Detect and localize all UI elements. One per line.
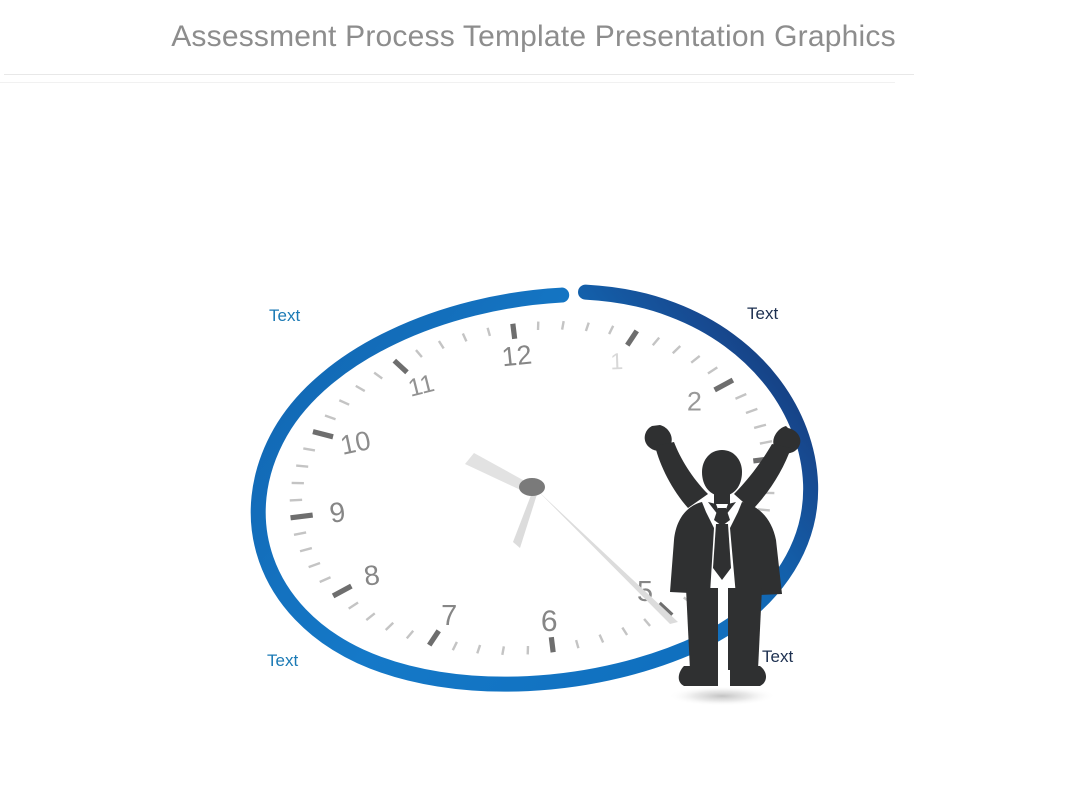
leg-left — [686, 588, 718, 670]
clock-numeral-6: 6 — [541, 605, 558, 638]
left-arm — [655, 442, 708, 508]
hour-tick — [513, 324, 515, 339]
head — [702, 450, 742, 496]
minute-tick — [502, 646, 504, 654]
minute-tick — [562, 321, 564, 329]
shoe-right — [730, 666, 766, 686]
minute-tick — [296, 466, 308, 467]
minute-tick — [290, 500, 302, 501]
header-divider — [4, 74, 914, 75]
clock-numeral-10: 10 — [338, 425, 374, 461]
slide-body: 12124567891011 — [0, 78, 1067, 800]
leg-right — [728, 588, 762, 670]
neck — [714, 492, 730, 504]
tie-body — [713, 524, 731, 580]
figure-shadow — [668, 686, 776, 706]
slide-header: Assessment Process Template Presentation… — [0, 0, 1067, 78]
clock-numeral-1: 1 — [610, 348, 624, 374]
right-arm — [734, 444, 791, 510]
clock-numeral-7: 7 — [441, 600, 457, 632]
page-title: Assessment Process Template Presentation… — [0, 20, 1067, 54]
callout-label-top-left[interactable]: Text — [269, 307, 300, 324]
callout-label-bottom-right[interactable]: Text — [762, 648, 793, 665]
jacket-left — [670, 502, 714, 594]
slide-canvas: Assessment Process Template Presentation… — [0, 0, 1067, 800]
jacket-right — [730, 502, 782, 596]
callout-label-bottom-left[interactable]: Text — [267, 652, 298, 669]
hour-tick — [551, 637, 553, 652]
callout-label-top-right[interactable]: Text — [747, 305, 778, 322]
shoe-left — [679, 666, 718, 686]
clock-numeral-12: 12 — [500, 339, 533, 372]
hour-tick — [291, 515, 313, 518]
hand-hub — [519, 478, 545, 496]
